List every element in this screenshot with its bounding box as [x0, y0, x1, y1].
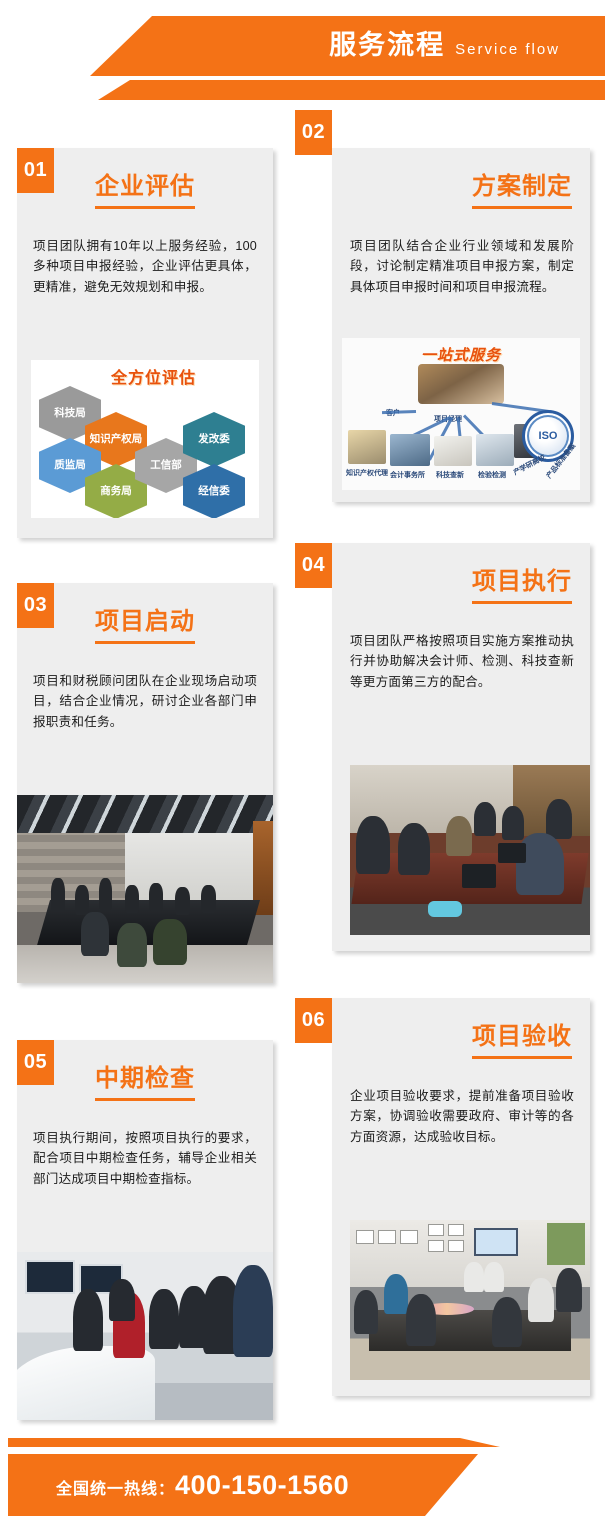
person-figure	[233, 1265, 273, 1357]
hexagon-diagram-title: 全方位评估	[111, 364, 196, 388]
one-stop-service-title: 一站式服务	[342, 344, 580, 365]
person-figure	[492, 1297, 522, 1347]
card-02-title: 方案制定	[472, 166, 572, 209]
card-03-number-badge: 03	[17, 583, 54, 628]
card-02-number-badge: 02	[295, 110, 332, 155]
card-03-body: 项目和财税顾问团队在企业现场启动项目，结合企业情况，研讨企业各部门申报职责和任务…	[33, 671, 257, 732]
person-figure	[153, 919, 187, 965]
person-figure	[149, 883, 163, 911]
person-figure	[75, 885, 89, 915]
hexagon-diagram: 全方位评估 科技局 知识产权局 质监局 商务局 工信部 发改委 经信委	[31, 360, 259, 518]
process-card-04[interactable]: 项目执行 项目团队严格按照项目实施方案推动执行并协助解决会计师、检测、科技查新等…	[332, 543, 590, 951]
one-stop-node-label-3: 检验检测	[478, 470, 506, 480]
one-stop-hub-photo	[418, 364, 504, 404]
certificate-frame	[448, 1224, 464, 1236]
card-04-number-badge: 04	[295, 543, 332, 588]
card-01-number-badge: 01	[17, 148, 54, 193]
process-card-03[interactable]: 项目启动 项目和财税顾问团队在企业现场启动项目，结合企业情况，研讨企业各部门申报…	[17, 583, 273, 983]
card-01-title: 企业评估	[95, 166, 195, 209]
equipment-detail	[428, 901, 462, 917]
certificate-frame	[428, 1224, 444, 1236]
process-card-02[interactable]: 方案制定 项目团队结合企业行业领域和发展阶段，讨论制定精准项目申报方案，制定具体…	[332, 148, 590, 502]
page-title: 服务流程Service flow	[0, 22, 560, 73]
header-banner-underline-shape	[0, 80, 605, 100]
certificate-frame	[400, 1230, 418, 1244]
person-figure	[484, 1262, 504, 1292]
person-figure	[556, 1268, 582, 1312]
person-figure	[384, 1274, 408, 1314]
certificate-frame	[378, 1230, 396, 1244]
person-figure	[354, 1290, 378, 1334]
person-figure	[149, 1289, 179, 1349]
card-06-title: 项目验收	[472, 1016, 572, 1059]
person-figure	[356, 816, 390, 874]
person-figure	[398, 823, 430, 875]
one-stop-service-diagram: 一站式服务 客户 项目经理 ISO 知识产权代理 会计事务所 科技查新 检验检测…	[342, 338, 580, 490]
monitor-detail	[25, 1260, 75, 1294]
page-footer: 全国统一热线：400-150-1560	[0, 1420, 605, 1538]
card-05-title: 中期检查	[95, 1058, 195, 1101]
card-06-number-badge: 06	[295, 998, 332, 1043]
process-card-01[interactable]: 企业评估 项目团队拥有10年以上服务经验，100多种项目申报经验，企业评估更具体…	[17, 148, 273, 538]
site-visit-photo	[17, 1252, 273, 1420]
page-title-en: Service flow	[455, 41, 560, 58]
page-title-cn: 服务流程	[329, 30, 445, 60]
green-wall-detail	[547, 1223, 585, 1265]
conference-room-photo	[17, 795, 273, 983]
person-figure	[73, 1289, 103, 1351]
person-figure	[502, 806, 524, 840]
footer-accent-line	[8, 1438, 605, 1447]
person-figure	[474, 802, 496, 836]
person-figure	[175, 887, 190, 915]
person-figure	[81, 912, 109, 956]
meeting-table-detail	[36, 900, 260, 949]
hotline-label: 全国统一热线：	[56, 1481, 175, 1498]
card-04-body: 项目团队严格按照项目实施方案推动执行并协助解决会计师、检测、科技查新等更方面第三…	[350, 631, 574, 692]
boardroom-photo	[350, 1220, 590, 1380]
person-figure	[125, 885, 139, 913]
one-stop-arrow-1	[382, 410, 416, 414]
one-stop-node-testing	[476, 434, 514, 466]
person-figure	[51, 878, 65, 912]
person-figure	[528, 1278, 554, 1322]
person-figure	[117, 923, 147, 967]
card-01-body: 项目团队拥有10年以上服务经验，100多种项目申报经验，企业评估更具体，更精准，…	[33, 236, 257, 297]
process-card-06[interactable]: 项目验收 企业项目验收要求，提前准备项目验收方案，协调验收需要政府、审计等的各方…	[332, 998, 590, 1396]
card-05-body: 项目执行期间，按照项目执行的要求，配合项目中期检查任务，辅导企业相关部门达成项目…	[33, 1128, 257, 1189]
working-meeting-photo	[350, 765, 590, 935]
card-06-body: 企业项目验收要求，提前准备项目验收方案，协调验收需要政府、审计等的各方面资源，达…	[350, 1086, 574, 1147]
hotline: 全国统一热线：400-150-1560	[56, 1464, 349, 1511]
person-figure	[446, 816, 472, 856]
page-header: 服务流程Service flow	[0, 0, 605, 108]
certificate-frame	[428, 1240, 444, 1252]
person-figure	[201, 885, 216, 913]
certificate-frame	[448, 1240, 464, 1252]
card-03-title: 项目启动	[95, 601, 195, 644]
one-stop-node-label-1: 会计事务所	[390, 470, 425, 480]
one-stop-node-search	[434, 436, 472, 466]
one-stop-node-label-2: 科技查新	[436, 470, 464, 480]
person-figure	[546, 799, 572, 839]
ceiling-detail	[17, 795, 273, 836]
person-figure	[109, 1279, 135, 1321]
laptop-detail	[462, 864, 496, 888]
laptop-detail	[498, 843, 526, 863]
process-card-05[interactable]: 中期检查 项目执行期间，按照项目执行的要求，配合项目中期检查任务，辅导企业相关部…	[17, 1040, 273, 1420]
one-stop-node-label-0: 知识产权代理	[346, 468, 388, 478]
one-stop-node-accounting	[390, 434, 430, 466]
card-04-title: 项目执行	[472, 561, 572, 604]
certificate-frame	[356, 1230, 374, 1244]
person-figure	[464, 1262, 484, 1292]
presentation-screen	[474, 1228, 518, 1256]
hotline-number[interactable]: 400-150-1560	[175, 1470, 349, 1500]
one-stop-node-ip	[348, 430, 386, 464]
person-figure	[99, 878, 112, 910]
card-02-body: 项目团队结合企业行业领域和发展阶段，讨论制定精准项目申报方案，制定具体项目申报时…	[350, 236, 574, 297]
person-figure	[406, 1294, 436, 1346]
card-05-number-badge: 05	[17, 1040, 54, 1085]
